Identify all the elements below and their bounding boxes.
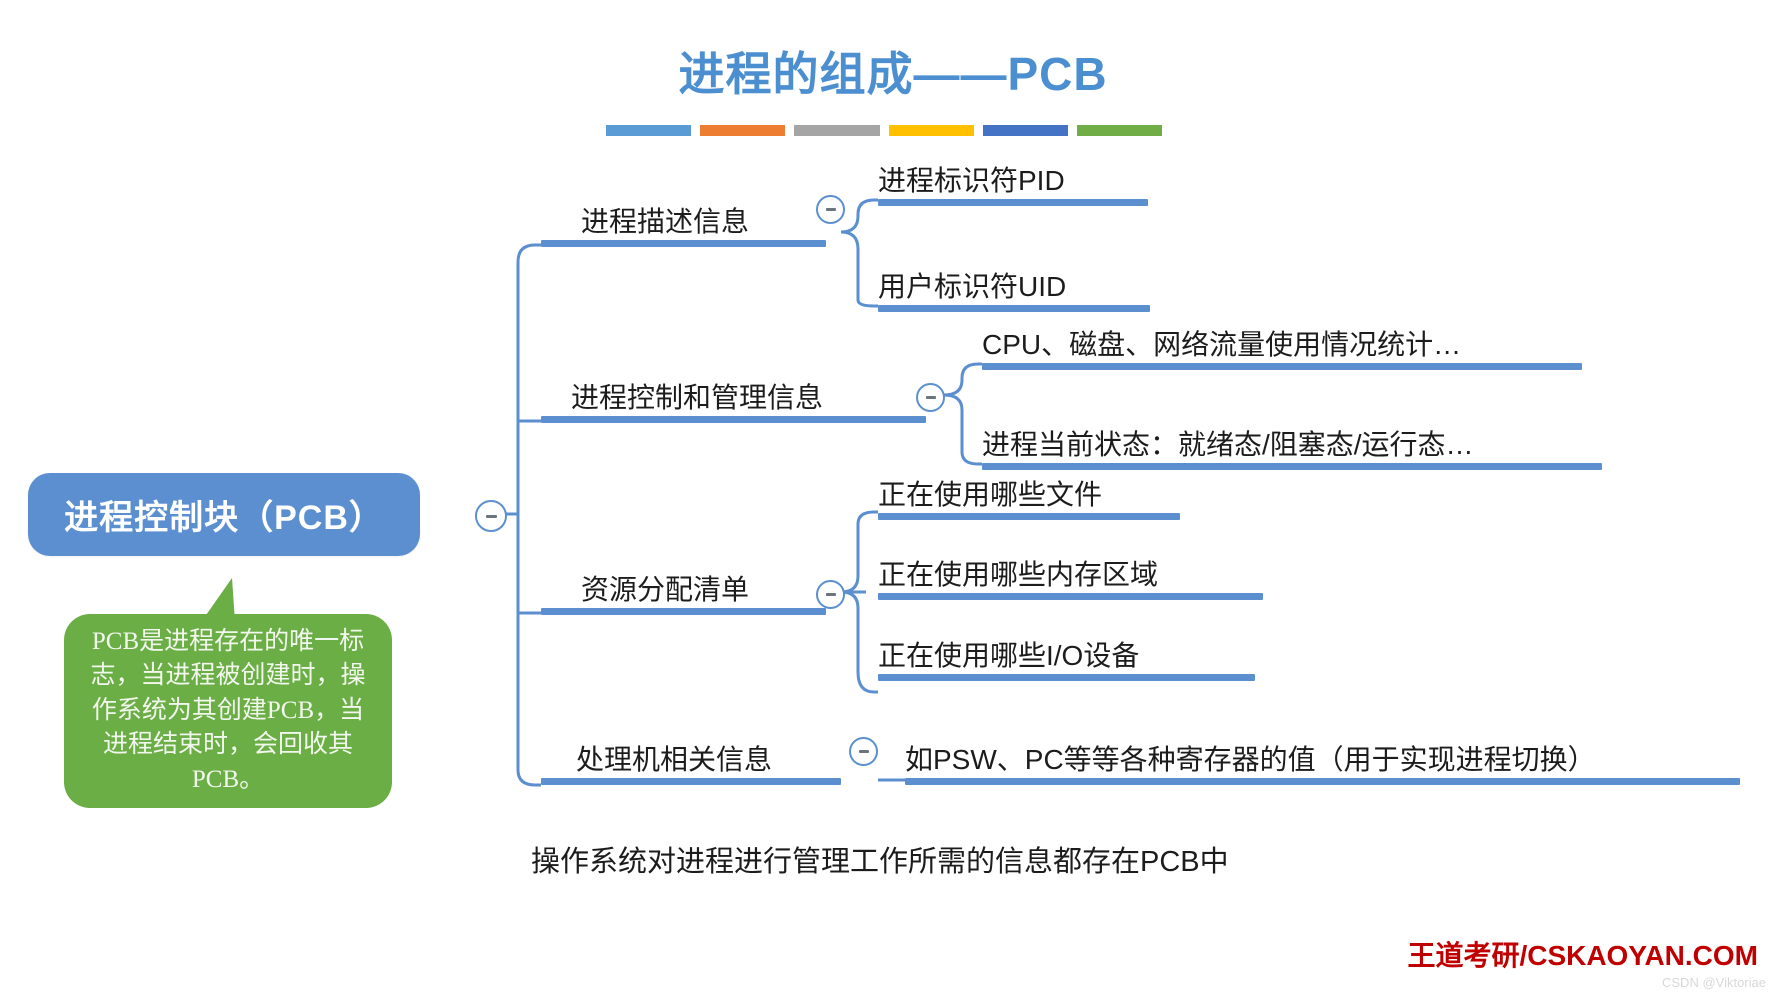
mindmap-leaf-2-1-label: CPU、磁盘、网络流量使用情况统计… (982, 330, 1461, 361)
mindmap-branch-3-label: 资源分配清单 (581, 575, 749, 606)
node-underline (878, 593, 1263, 600)
bottom-note: 操作系统对进程进行管理工作所需的信息都存在PCB中 (531, 838, 1229, 880)
mindmap-leaf-3-2[interactable]: 正在使用哪些内存区域 (878, 560, 1263, 600)
mindmap-branch-3[interactable]: 资源分配清单 (541, 565, 826, 615)
node-underline (878, 513, 1180, 520)
minus-icon (826, 208, 836, 211)
callout-body: PCB是进程存在的唯一标志，当进程被创建时，操作系统为其创建PCB，当进程结束时… (64, 614, 392, 808)
node-underline (982, 463, 1602, 470)
minus-icon (926, 396, 936, 399)
node-underline (541, 240, 826, 247)
mindmap-leaf-3-1-label: 正在使用哪些文件 (878, 480, 1102, 511)
mindmap-root-label: 进程控制块（PCB） (64, 490, 384, 539)
mindmap-leaf-1-1[interactable]: 进程标识符PID (878, 166, 1148, 206)
callout-bubble: PCB是进程存在的唯一标志，当进程被创建时，操作系统为其创建PCB，当进程结束时… (64, 578, 392, 808)
mindmap-leaf-4-1-label: 如PSW、PC等等各种寄存器的值（用于实现进程切换） (905, 745, 1596, 776)
collapse-toggle-root[interactable] (475, 500, 507, 532)
node-underline (878, 674, 1255, 681)
mindmap-branch-2[interactable]: 进程控制和管理信息 (541, 373, 926, 423)
minus-icon (859, 750, 869, 753)
node-underline (541, 416, 926, 423)
mindmap-leaf-2-2-label: 进程当前状态：就绪态/阻塞态/运行态… (982, 430, 1474, 461)
mindmap-leaf-1-2-label: 用户标识符UID (878, 272, 1066, 303)
mindmap-leaf-2-2[interactable]: 进程当前状态：就绪态/阻塞态/运行态… (982, 430, 1602, 470)
watermark-label: CSDN @Viktoriae (1662, 975, 1766, 990)
mindmap-branch-4[interactable]: 处理机相关信息 (541, 735, 841, 785)
mindmap-leaf-3-3[interactable]: 正在使用哪些I/O设备 (878, 641, 1255, 681)
minus-icon (486, 515, 497, 518)
node-underline (541, 778, 841, 785)
node-underline (982, 363, 1582, 370)
mindmap-root-node[interactable]: 进程控制块（PCB） (28, 473, 420, 556)
mindmap-leaf-4-1[interactable]: 如PSW、PC等等各种寄存器的值（用于实现进程切换） (905, 740, 1740, 785)
node-underline (541, 608, 826, 615)
collapse-toggle-branch-1[interactable] (816, 195, 845, 224)
slide-canvas: 进程的组成——PCB (0, 0, 1786, 996)
brand-label: 王道考研/CSKAOYAN.COM (1407, 934, 1758, 974)
mindmap-leaf-2-1[interactable]: CPU、磁盘、网络流量使用情况统计… (982, 330, 1582, 370)
mindmap-branch-4-label: 处理机相关信息 (576, 745, 772, 776)
collapse-toggle-branch-3[interactable] (816, 580, 845, 609)
mindmap-leaf-1-2[interactable]: 用户标识符UID (878, 272, 1150, 312)
node-underline (878, 305, 1150, 312)
mindmap-leaf-1-1-label: 进程标识符PID (878, 166, 1065, 197)
callout-text: PCB是进程存在的唯一标志，当进程被创建时，操作系统为其创建PCB，当进程结束时… (82, 625, 374, 798)
mindmap-branch-1-label: 进程描述信息 (581, 207, 749, 238)
node-underline (878, 199, 1148, 206)
mindmap-leaf-3-3-label: 正在使用哪些I/O设备 (878, 641, 1139, 672)
node-underline (905, 778, 1740, 785)
collapse-toggle-branch-2[interactable] (916, 383, 945, 412)
minus-icon (826, 593, 836, 596)
collapse-toggle-branch-4[interactable] (849, 737, 878, 766)
mindmap-branch-1[interactable]: 进程描述信息 (541, 197, 826, 247)
mindmap-leaf-3-2-label: 正在使用哪些内存区域 (878, 560, 1158, 591)
mindmap-leaf-3-1[interactable]: 正在使用哪些文件 (878, 480, 1180, 520)
mindmap-branch-2-label: 进程控制和管理信息 (571, 383, 823, 414)
